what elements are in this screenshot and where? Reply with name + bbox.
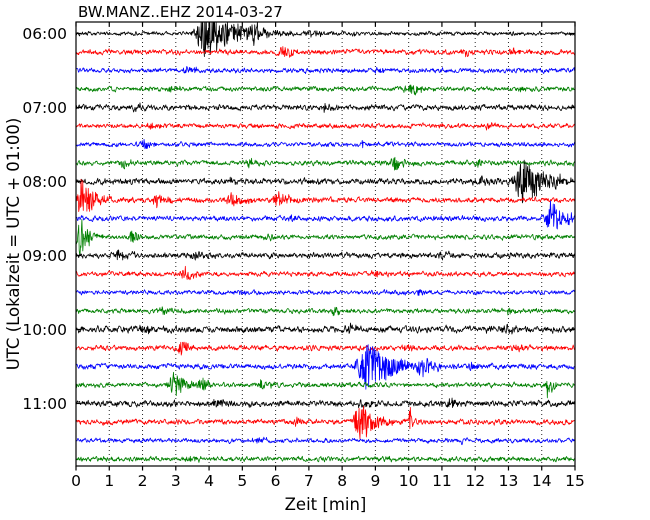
x-tick-label: 7 <box>304 472 314 490</box>
y-tick-label: 09:00 <box>22 247 67 265</box>
figure-canvas: 0123456789101112131415Zeit [min]06:0007:… <box>0 0 650 520</box>
x-tick-label: 6 <box>271 472 281 490</box>
y-tick-label: 11:00 <box>22 395 67 413</box>
x-tick-label: 4 <box>204 472 214 490</box>
y-tick-label: 06:00 <box>22 25 67 43</box>
x-tick-label: 3 <box>171 472 181 490</box>
x-axis-title: Zeit [min] <box>285 495 367 514</box>
x-tick-label: 2 <box>138 472 148 490</box>
x-tick-label: 5 <box>237 472 247 490</box>
x-tick-label: 10 <box>399 472 419 490</box>
x-tick-label: 11 <box>432 472 452 490</box>
x-tick-label: 13 <box>499 472 519 490</box>
x-tick-label: 8 <box>337 472 347 490</box>
y-tick-label: 08:00 <box>22 173 67 191</box>
x-tick-label: 1 <box>104 472 114 490</box>
x-tick-label: 12 <box>465 472 485 490</box>
plot-title: BW.MANZ..EHZ 2014-03-27 <box>78 3 283 21</box>
helicorder-plot: 0123456789101112131415Zeit [min]06:0007:… <box>0 0 650 520</box>
y-tick-label: 07:00 <box>22 99 67 117</box>
x-tick-label: 14 <box>532 472 552 490</box>
seismogram-page: 0123456789101112131415Zeit [min]06:0007:… <box>0 0 650 520</box>
x-tick-label: 9 <box>370 472 380 490</box>
x-tick-label: 15 <box>565 472 585 490</box>
y-axis-title: UTC (Lokalzeit = UTC + 01:00) <box>4 118 23 371</box>
x-tick-label: 0 <box>71 472 81 490</box>
y-tick-label: 10:00 <box>22 321 67 339</box>
